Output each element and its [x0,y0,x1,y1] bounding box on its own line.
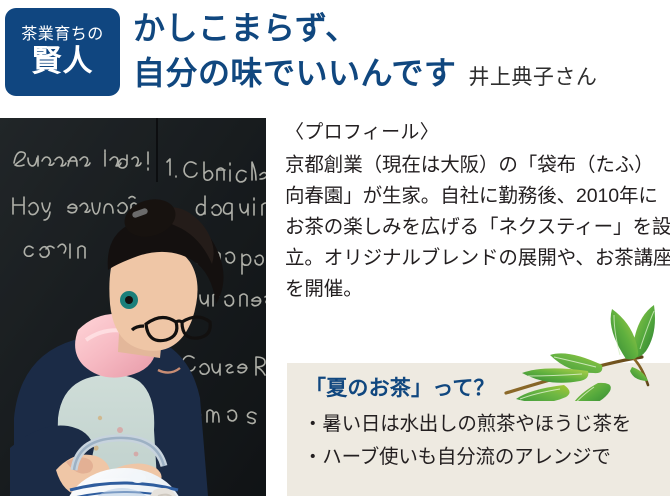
profile-photo [0,118,266,496]
author-name: 井上典子さん [468,61,597,91]
category-badge: 茶業育ちの 賢人 [5,8,120,96]
callout-list-item: ・暑い日は水出しの煎茶やほうじ茶を [303,408,631,441]
profile-line: 立。オリジナルブレンドの展開や、お茶講座 [285,243,670,274]
headline-line-2-row: 自分の味でいいんです 井上典子さん [133,51,663,96]
callout-list-item: ・ハーブ使いも自分流のアレンジで [303,441,631,474]
profile-heading: 〈プロフィール〉 [285,118,670,148]
callout-list: ・暑い日は水出しの煎茶やほうじ茶を ・ハーブ使いも自分流のアレンジで [303,408,631,474]
profile-line: 京都創業（現在は大阪）の「袋布（たふ） [285,150,670,181]
profile-text-block: 〈プロフィール〉 京都創業（現在は大阪）の「袋布（たふ） 向春園」が生家。自社に… [285,118,670,305]
profile-line: を開催。 [285,274,670,305]
headline-line-2: 自分の味でいいんです [133,51,456,96]
badge-kicker: 茶業育ちの [21,27,104,43]
photo-illustration [0,118,266,496]
profile-line: 向春園」が生家。自社に勤務後、2010年に [285,181,670,212]
callout-heading: 「夏のお茶」って？ [305,372,495,402]
article-header: 茶業育ちの 賢人 かしこまらず、 自分の味でいいんです 井上典子さん [0,0,670,110]
profile-line: お茶の楽しみを広げる「ネクスティー」を設 [285,212,670,243]
badge-title: 賢人 [32,47,94,77]
headline-block: かしこまらず、 自分の味でいいんです 井上典子さん [133,6,663,96]
summer-tea-callout: 「夏のお茶」って？ ・暑い日は水出しの煎茶やほうじ茶を ・ハーブ使いも自分流のア… [287,363,670,496]
headline-line-1: かしこまらず、 [133,6,663,51]
